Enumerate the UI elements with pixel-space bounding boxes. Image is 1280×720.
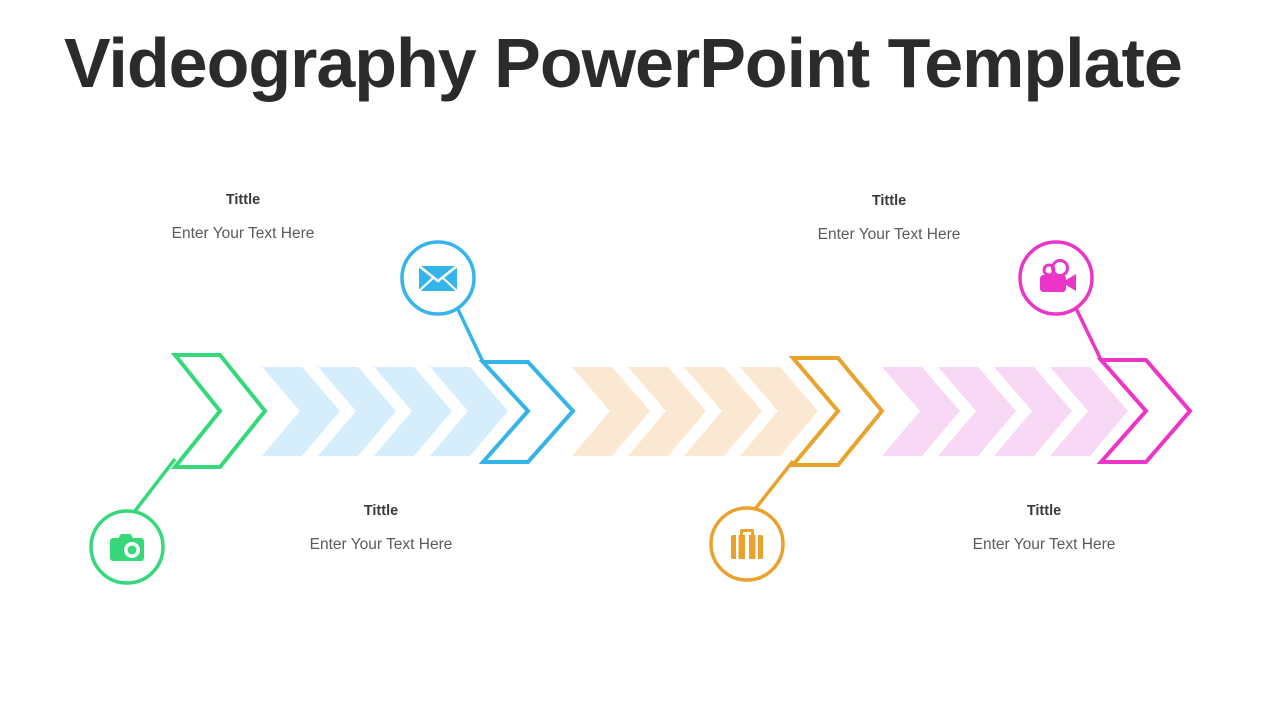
step-3-title: Tittle — [759, 191, 1019, 213]
step-2-description: Enter Your Text Here — [251, 533, 511, 558]
step-1-label-block: Tittle Enter Your Text Here — [113, 190, 373, 247]
slide-canvas: Videography PowerPoint Template — [0, 0, 1280, 720]
photo-camera-icon — [110, 534, 144, 561]
step-4-connector-line — [1073, 302, 1101, 360]
step-4-title: Tittle — [914, 501, 1174, 523]
step-4-description: Enter Your Text Here — [914, 533, 1174, 558]
step-2-connector-line — [455, 303, 483, 362]
envelope-icon — [419, 266, 457, 291]
step-3-label-block: Tittle Enter Your Text Here — [759, 191, 1019, 248]
step-1-chevron[interactable] — [175, 355, 265, 467]
step-1-description: Enter Your Text Here — [113, 222, 373, 247]
filler-chevron — [572, 367, 650, 456]
filler-chevron-group-1 — [262, 367, 508, 456]
step-4-label-block: Tittle Enter Your Text Here — [914, 501, 1174, 558]
chevron-process-diagram — [0, 0, 1280, 720]
filler-chevron-group-3 — [882, 367, 1128, 456]
filler-chevron-group-2 — [572, 367, 818, 456]
step-1-title: Tittle — [113, 190, 373, 212]
step-3-description: Enter Your Text Here — [759, 223, 1019, 248]
step-2-title: Tittle — [251, 501, 511, 523]
step-2-label-block: Tittle Enter Your Text Here — [251, 501, 511, 558]
step-1-group[interactable] — [91, 355, 265, 583]
filler-chevron — [882, 367, 960, 456]
filler-chevron — [262, 367, 340, 456]
